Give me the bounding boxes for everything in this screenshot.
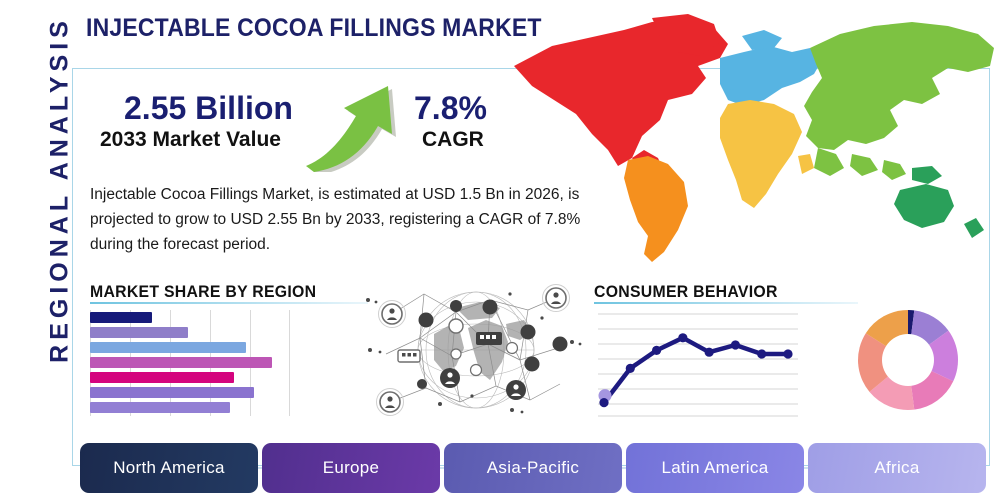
region-button-label: Asia-Pacific	[487, 458, 579, 478]
region-button-label: Europe	[323, 458, 380, 478]
global-network-globe-icon	[360, 276, 592, 424]
region-button-label: North America	[113, 458, 225, 478]
market-share-bar-chart	[90, 310, 290, 416]
consumer-behavior-divider	[594, 302, 858, 304]
consumer-behavior-heading: CONSUMER BEHAVIOR	[594, 282, 778, 302]
market-share-divider	[90, 302, 368, 304]
region-button-label: Latin America	[662, 458, 769, 478]
segment-donut-chart	[856, 308, 960, 412]
table-row	[90, 372, 234, 383]
region-button-label: Africa	[874, 458, 919, 478]
consumer-behavior-line-chart	[598, 310, 798, 418]
cagr-value: 7.8%	[414, 90, 487, 127]
headline-stats: 2.55 Billion 2033 Market Value 7.8% CAGR	[92, 90, 512, 172]
region-button-asia-pacific[interactable]: Asia-Pacific	[444, 443, 622, 493]
page-title: INJECTABLE COCOA FILLINGS MARKET	[86, 14, 542, 43]
region-button-africa[interactable]: Africa	[808, 443, 986, 493]
region-button-bar: North America Europe Asia-Pacific Latin …	[80, 443, 990, 493]
table-row	[90, 357, 272, 368]
market-value: 2.55 Billion	[124, 90, 293, 127]
infographic-root: REGIONAL ANALYSIS INJECTABLE COCOA FILLI…	[0, 0, 1000, 500]
table-row	[90, 312, 152, 323]
table-row	[90, 387, 254, 398]
region-button-europe[interactable]: Europe	[262, 443, 440, 493]
market-value-label: 2033 Market Value	[100, 128, 281, 152]
growth-arrow-icon	[300, 82, 408, 172]
table-row	[90, 327, 188, 338]
world-map-icon	[492, 8, 1000, 276]
cagr-label: CAGR	[422, 128, 484, 152]
table-row	[90, 342, 246, 353]
region-button-latin-america[interactable]: Latin America	[626, 443, 804, 493]
table-row	[90, 402, 230, 413]
side-label: REGIONAL ANALYSIS	[46, 0, 75, 400]
region-button-north-america[interactable]: North America	[80, 443, 258, 493]
market-share-heading: MARKET SHARE BY REGION	[90, 282, 316, 302]
